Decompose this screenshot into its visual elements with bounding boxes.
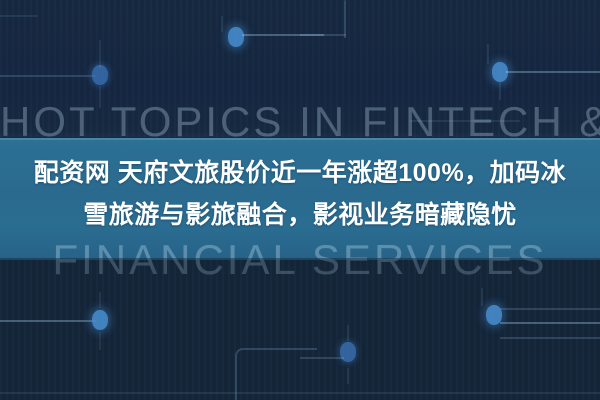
circuit-trace-horizontal — [500, 322, 600, 324]
circuit-trace-vertical — [99, 40, 101, 68]
circuit-trace-vertical — [347, 325, 349, 341]
circuit-node — [340, 342, 356, 362]
circuit-trace-vertical — [221, 16, 223, 32]
circuit-node — [228, 27, 244, 47]
circuit-trace-horizontal — [300, 357, 344, 359]
headline-line-2: 雪旅游与影旅融合，影视业务暗藏隐忧 — [0, 194, 600, 236]
circuit-trace-horizontal — [506, 71, 600, 73]
watermark-line-2-overlay: FINANCIAL SERVICES — [0, 236, 600, 260]
circuit-trace-horizontal — [300, 34, 346, 36]
headline: 配资网 天府文旅股价近一年涨超100%，加码冰 雪旅游与影旅融合，影视业务暗藏隐… — [0, 152, 600, 236]
headline-line-1: 配资网 天府文旅股价近一年涨超100%，加码冰 — [0, 152, 600, 194]
circuit-trace-horizontal — [0, 320, 96, 322]
circuit-trace-horizontal — [500, 308, 600, 310]
circuit-trace-horizontal — [0, 15, 38, 17]
news-banner-image: HOT TOPICS IN FINTECH & FINANCIAL SERVIC… — [0, 0, 600, 400]
watermark-line-1-overlay: HOT TOPICS IN FINTECH & — [0, 138, 600, 146]
circuit-trace-vertical — [487, 44, 489, 64]
circuit-node — [92, 65, 108, 85]
circuit-trace-vertical — [347, 368, 349, 384]
highlight-band-bottom-edge — [0, 258, 600, 260]
circuit-trace-vertical — [481, 288, 483, 306]
circuit-trace-horizontal — [0, 75, 96, 77]
circuit-node — [92, 310, 108, 330]
circuit-trace-vertical — [99, 292, 101, 308]
circuit-trace-elbow — [344, 0, 346, 38]
circuit-trace-vertical — [99, 332, 101, 350]
circuit-trace-horizontal — [500, 337, 600, 339]
circuit-trace-horizontal — [0, 392, 600, 394]
